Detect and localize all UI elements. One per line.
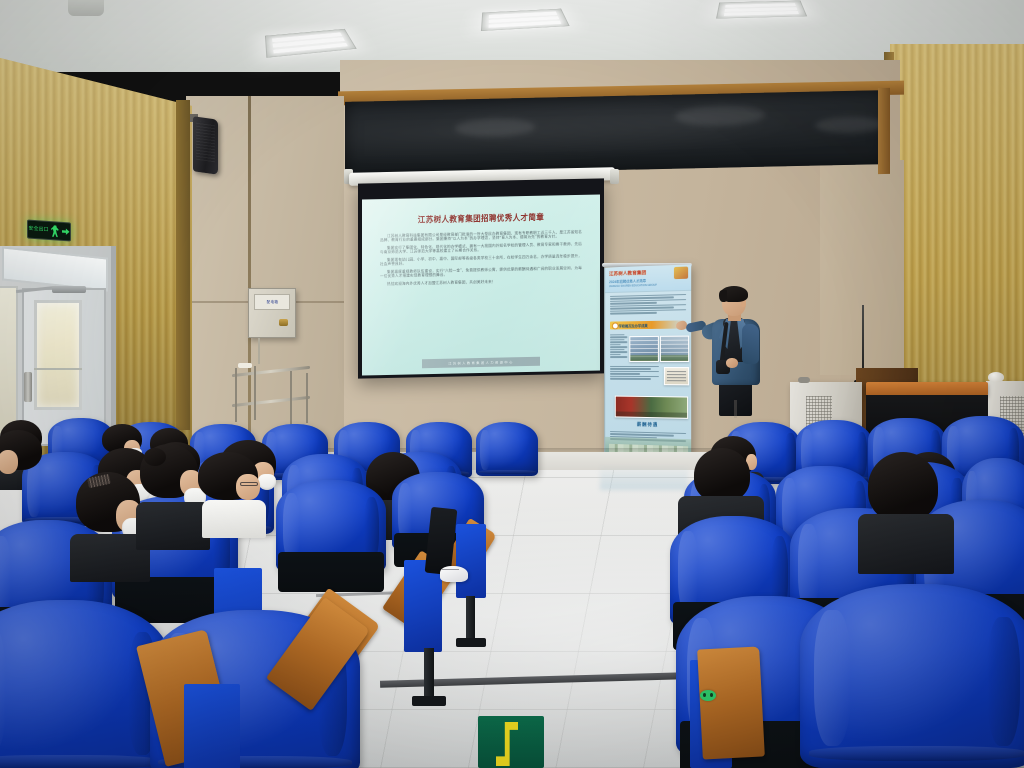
presenter-right-arm <box>742 324 759 364</box>
person-face <box>236 474 260 500</box>
eyeglasses <box>240 482 258 486</box>
audience-person <box>196 452 266 530</box>
door-closer <box>52 286 86 293</box>
door-vision-glass <box>34 300 82 410</box>
presenter-hair <box>720 286 748 302</box>
seat-fold <box>814 610 851 746</box>
text-line <box>610 351 627 352</box>
text-line <box>610 347 627 348</box>
campus-panorama-photo <box>615 396 688 419</box>
wall-corner-trim-left <box>176 100 190 430</box>
seat[interactable] <box>476 422 538 476</box>
running-person-icon <box>51 225 60 238</box>
slide-paragraph: 集团现有幼儿园、小学、初中、高中、国际部等各级各类学校三十余所，在校学生四万余名… <box>380 254 582 267</box>
cert-line <box>667 374 686 375</box>
banner-section-title-text: 学校概况及办学成果 <box>610 322 648 328</box>
person-shoulders <box>202 500 266 538</box>
projection-screen: 江苏树人教育集团招聘优秀人才简章 江苏树人教育科技集团有限公司是经教育部门批准的… <box>358 178 604 378</box>
audience-person <box>136 444 202 536</box>
audience-person <box>0 430 58 500</box>
person-hair <box>868 452 938 522</box>
seat-arm-side-panel <box>404 560 442 652</box>
certificate-photo <box>664 367 689 385</box>
ceiling-air-diffuser <box>68 0 104 16</box>
rack-leg <box>306 373 308 423</box>
led-tube <box>724 11 799 16</box>
cert-line <box>667 380 686 381</box>
seat-fold <box>398 483 413 541</box>
rack-leg <box>254 366 256 420</box>
wall-mounted-speaker <box>193 116 218 175</box>
slide-footer-bar: 江苏树人教育集团人力资源中心 <box>422 357 540 368</box>
blackboard <box>345 90 885 176</box>
chalk-smudge <box>675 105 765 127</box>
person-face <box>0 450 18 474</box>
text-line <box>610 334 625 335</box>
hair-bun <box>144 448 166 466</box>
seat-arm-side-panel <box>456 524 486 598</box>
text-line <box>610 376 659 377</box>
arrow-right-icon <box>62 227 70 236</box>
seat-hem <box>0 755 162 768</box>
banner-text-block <box>610 334 627 357</box>
text-line <box>610 339 625 340</box>
auditorium-photo-scene: 安全出口 配电箱 江苏树人教育集团招聘优秀人才简章 <box>0 0 1024 768</box>
cert-line <box>667 371 686 372</box>
cert-line <box>667 377 686 378</box>
seat-fold <box>283 493 301 561</box>
control-box-label-text: 配电箱 <box>266 300 278 304</box>
door-sidelight-glass <box>0 286 18 436</box>
presenter-right-hand <box>726 358 738 368</box>
banner-text-block <box>610 294 686 314</box>
seat-armrest[interactable] <box>697 646 765 759</box>
blackboard-frame-right <box>878 88 890 174</box>
wooden-lectern-top <box>866 382 988 396</box>
banner-bottom-title: 薪酬待遇 <box>605 421 691 429</box>
electrical-control-box[interactable]: 配电箱 <box>248 288 296 338</box>
person-shoulders <box>858 514 954 574</box>
presenter-leg-gap <box>734 400 737 418</box>
banner-logo-icon <box>674 267 688 280</box>
rack-item <box>238 363 252 368</box>
text-line <box>610 312 657 314</box>
rack-leg <box>290 371 292 425</box>
speaker-top-fitting <box>798 377 810 383</box>
control-box-cable <box>258 338 260 364</box>
text-line <box>610 349 625 350</box>
seat-arm-side-panel <box>184 684 240 768</box>
banner-floor-reflection <box>600 464 688 490</box>
wire-shelf-rack <box>232 362 310 422</box>
text-line <box>610 368 651 369</box>
chalk-smudge <box>815 116 885 134</box>
slide-footer-text: 江苏树人教育集团人力资源中心 <box>448 359 514 365</box>
slide-paragraph: 集团实行了集团化、特色化、现代化的办学模式，拥有一大批国内外知名学校的管理人员、… <box>380 242 582 255</box>
slide-paragraph: 江苏树人教育科技集团有限公司是经教育部门批准的一所大型民办教育集团，现有专职教职… <box>380 230 582 243</box>
seat-fold <box>480 430 490 470</box>
floor-directional-marker <box>478 716 544 768</box>
seat[interactable] <box>276 480 386 572</box>
text-line <box>610 342 627 343</box>
seat-hem <box>478 470 535 474</box>
person-hair <box>694 448 750 502</box>
text-line <box>610 354 621 355</box>
seat-lower-frame <box>278 552 384 592</box>
exit-sign-label-cn: 安全出口 <box>28 227 48 233</box>
text-line <box>610 337 627 338</box>
projection-screen-surface: 江苏树人教育集团招聘优秀人才简章 江苏树人教育科技集团有限公司是经教育部门批准的… <box>362 195 600 376</box>
slide-body: 江苏树人教育科技集团有限公司是经教育部门批准的一所大型民办教育集团，现有专职教职… <box>380 230 582 287</box>
recessed-led-panel-3 <box>716 1 807 19</box>
text-line <box>610 378 651 379</box>
slide-paragraph: 热忱欢迎海内外优秀人才加盟江苏树人教育集团，共创美好未来！ <box>380 278 582 286</box>
control-box-label: 配电箱 <box>254 294 290 310</box>
seat-fold <box>987 617 1020 746</box>
seat-leg-foot <box>456 638 486 647</box>
door-handle[interactable] <box>24 372 32 402</box>
text-line <box>610 373 640 374</box>
chalk-smudge <box>455 118 535 138</box>
seat-leg-foot <box>412 696 446 706</box>
rack-leg <box>235 368 237 422</box>
text-line <box>610 344 621 345</box>
banner-text-block <box>610 366 659 380</box>
screen-roller-end-cap <box>610 169 619 184</box>
seat[interactable] <box>800 584 1024 768</box>
text-line <box>610 366 659 367</box>
slide-title: 江苏树人教育集团招聘优秀人才简章 <box>380 210 582 227</box>
seat-hem <box>809 746 1024 761</box>
emergency-exit-sign: 安全出口 <box>27 219 71 241</box>
seat-leg <box>424 648 434 700</box>
banner-header: 江苏树人教育集团 2024年招聘优秀人才简章 JIANGSU SHUREN ED… <box>605 264 691 293</box>
campus-building-photo <box>660 336 689 362</box>
audience-person <box>868 452 942 562</box>
text-line <box>610 356 627 357</box>
arrow-marker-icon <box>496 722 518 766</box>
power-outlet-sticker-icon <box>700 690 716 701</box>
presenter-speaking <box>700 288 770 413</box>
speaker-top-fitting <box>988 372 1004 382</box>
sneaker <box>440 566 468 582</box>
seat-leg <box>466 596 475 642</box>
lock-icon[interactable] <box>279 319 288 326</box>
rollup-banner: 江苏树人教育集团 2024年招聘优秀人才简章 JIANGSU SHUREN ED… <box>604 264 691 461</box>
text-line <box>610 371 659 372</box>
slide-paragraph: 集团高度重视教师队伍建设，实行“六险一金”，免费提供教师公寓，提供优厚的薪酬待遇… <box>380 266 582 279</box>
campus-building-photo <box>629 336 659 362</box>
door-glass-mullion <box>34 368 82 370</box>
rack-shelf <box>232 396 310 407</box>
presentation-slide: 江苏树人教育集团招聘优秀人才简章 江苏树人教育科技集团有限公司是经教育部门批准的… <box>362 195 600 376</box>
